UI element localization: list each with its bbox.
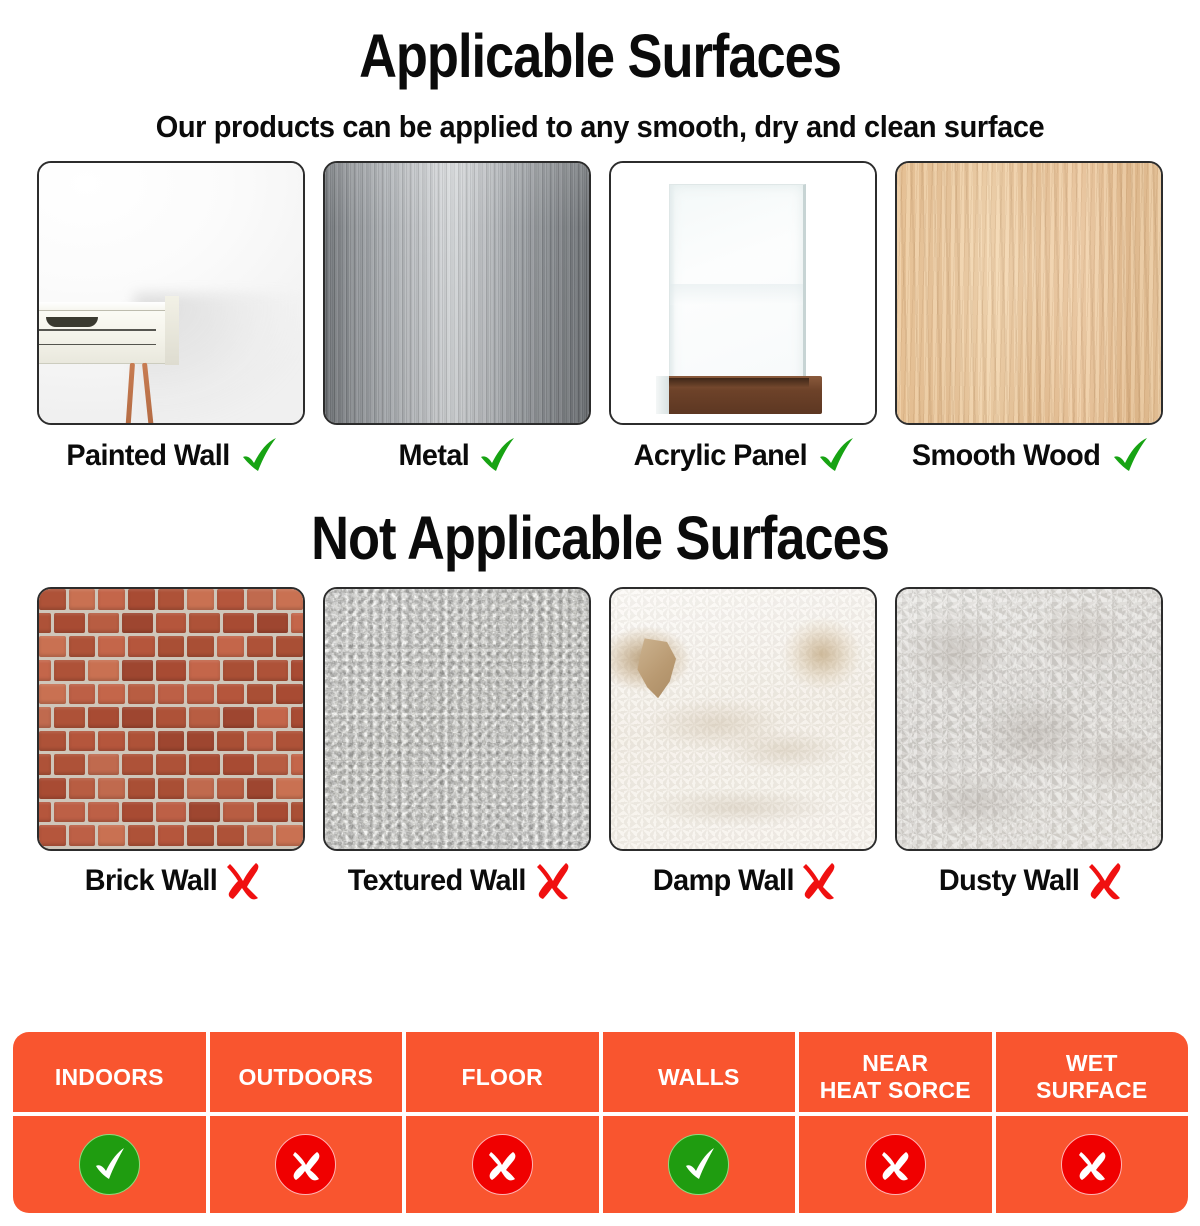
brick xyxy=(276,731,303,752)
textured-wall-image xyxy=(323,587,591,851)
brick xyxy=(276,778,303,799)
surface-caption: Painted Wall xyxy=(31,436,311,476)
brick xyxy=(187,684,214,705)
brick xyxy=(69,778,96,799)
matrix-header-line2: HEAT SORCE xyxy=(820,1077,971,1104)
brick xyxy=(39,731,66,752)
brick xyxy=(98,684,125,705)
brick xyxy=(187,589,214,610)
brick xyxy=(156,613,187,634)
brick xyxy=(54,707,85,728)
brick xyxy=(158,636,185,657)
brick-row xyxy=(39,825,303,849)
surface-card-acrylic-panel: Acrylic Panel xyxy=(603,161,883,476)
brick xyxy=(54,660,85,681)
brick xyxy=(88,707,119,728)
brick xyxy=(88,754,119,775)
surface-card-painted-wall: Painted Wall xyxy=(31,161,311,476)
brick xyxy=(37,660,51,681)
usage-matrix: INDOORS OUTDOORS FLOOR WALLS NEAR HEAT S… xyxy=(13,1032,1188,1209)
painted-wall-image xyxy=(37,161,305,425)
base-left-cap xyxy=(656,376,669,414)
matrix-header-outdoors: OUTDOORS xyxy=(210,1032,403,1112)
surface-label: Dusty Wall xyxy=(939,864,1079,898)
brick-row xyxy=(39,778,303,802)
matrix-header-line1: WET xyxy=(1066,1050,1118,1076)
brick xyxy=(291,660,305,681)
red-cross-icon xyxy=(536,862,570,900)
textured-wall-texture xyxy=(325,589,589,849)
green-check-icon xyxy=(239,436,279,476)
brick xyxy=(69,636,96,657)
matrix-status-wet-surface xyxy=(996,1116,1189,1213)
red-cross-icon xyxy=(802,862,836,900)
cabinet-side-face xyxy=(165,296,179,365)
brick xyxy=(37,707,51,728)
brick xyxy=(257,707,288,728)
check-circle-icon xyxy=(668,1134,729,1195)
brick xyxy=(98,589,125,610)
brick xyxy=(54,754,85,775)
brick xyxy=(247,778,274,799)
base-slot xyxy=(666,378,809,386)
brick xyxy=(128,636,155,657)
surface-caption: Textured Wall xyxy=(317,862,597,900)
brick xyxy=(247,684,274,705)
brick xyxy=(223,754,254,775)
brick xyxy=(158,825,185,846)
brick xyxy=(291,754,305,775)
brick xyxy=(39,589,66,610)
brick xyxy=(247,731,274,752)
surface-label: Acrylic Panel xyxy=(633,439,806,473)
brick xyxy=(247,589,274,610)
acrylic-panel-image xyxy=(609,161,877,425)
matrix-header-line1: WALLS xyxy=(658,1064,740,1090)
matrix-header-line1: NEAR xyxy=(862,1050,928,1076)
surface-card-metal: Metal xyxy=(317,161,597,476)
surface-label: Damp Wall xyxy=(653,864,794,898)
wooden-base xyxy=(656,376,822,414)
brick xyxy=(291,613,305,634)
smooth-wood-image xyxy=(895,161,1163,425)
brick-row xyxy=(39,589,303,613)
smooth-wood-texture xyxy=(897,163,1161,423)
page-title-not-applicable: Not Applicable Surfaces xyxy=(84,508,1116,569)
brick xyxy=(247,636,274,657)
brick xyxy=(223,660,254,681)
surface-caption: Damp Wall xyxy=(603,862,883,900)
cabinet-line-2 xyxy=(37,344,156,346)
brick xyxy=(88,802,119,823)
brick xyxy=(189,660,220,681)
cabinet-handle xyxy=(46,317,98,326)
painted-wall-texture xyxy=(39,163,303,423)
brick xyxy=(122,707,153,728)
brick xyxy=(187,636,214,657)
brick xyxy=(158,731,185,752)
brick xyxy=(257,613,288,634)
brick xyxy=(122,802,153,823)
brick xyxy=(98,778,125,799)
brick xyxy=(156,660,187,681)
matrix-header-indoors: INDOORS xyxy=(13,1032,206,1112)
acrylic-panel-texture xyxy=(611,163,875,423)
matrix-header-line1: FLOOR xyxy=(462,1064,544,1090)
brick xyxy=(69,731,96,752)
brick-row xyxy=(37,613,305,637)
brick-row xyxy=(39,684,303,708)
matrix-status-floor xyxy=(406,1116,599,1213)
paint-peel-patch xyxy=(635,638,680,698)
brick xyxy=(276,589,303,610)
surface-caption: Dusty Wall xyxy=(889,862,1169,900)
brick xyxy=(158,589,185,610)
brick xyxy=(69,589,96,610)
brick xyxy=(276,636,303,657)
brick-row xyxy=(37,802,305,826)
brick xyxy=(223,802,254,823)
brick xyxy=(257,802,288,823)
brick xyxy=(189,613,220,634)
brick xyxy=(128,778,155,799)
brick xyxy=(187,778,214,799)
brick-wall-texture xyxy=(39,589,303,849)
brick xyxy=(156,754,187,775)
cabinet-shape xyxy=(37,302,168,364)
acrylic-sheet xyxy=(669,184,806,397)
damp-wall-texture xyxy=(611,589,875,849)
surface-card-dusty-wall: Dusty Wall xyxy=(889,587,1169,900)
matrix-header-line1: OUTDOORS xyxy=(239,1064,374,1090)
dusty-wall-texture xyxy=(897,589,1161,849)
surface-label: Smooth Wood xyxy=(912,439,1100,473)
surface-caption: Acrylic Panel xyxy=(603,436,883,476)
brick xyxy=(122,613,153,634)
brick-row xyxy=(39,636,303,660)
brick xyxy=(156,802,187,823)
dusty-wall-image xyxy=(895,587,1163,851)
brick-row xyxy=(37,754,305,778)
red-cross-icon xyxy=(1088,862,1122,900)
brick xyxy=(291,802,305,823)
x-circle-icon xyxy=(865,1134,926,1195)
cabinet-line-1 xyxy=(37,329,156,331)
brick xyxy=(217,589,244,610)
x-circle-icon xyxy=(1061,1134,1122,1195)
brick xyxy=(257,754,288,775)
surface-card-brick-wall: Brick Wall xyxy=(31,587,311,900)
red-cross-icon xyxy=(226,862,260,900)
metal-image xyxy=(323,161,591,425)
green-check-icon xyxy=(816,436,856,476)
brick xyxy=(128,589,155,610)
applicable-surfaces-grid: Painted Wall Metal xyxy=(0,161,1200,476)
brick xyxy=(98,636,125,657)
surface-label: Metal xyxy=(399,439,470,473)
brick xyxy=(189,754,220,775)
brick xyxy=(223,707,254,728)
surface-card-textured-wall: Textured Wall xyxy=(317,587,597,900)
brick xyxy=(88,613,119,634)
brick xyxy=(158,778,185,799)
brick xyxy=(88,660,119,681)
brick xyxy=(187,731,214,752)
surface-caption: Brick Wall xyxy=(31,862,311,900)
x-circle-icon xyxy=(472,1134,533,1195)
damp-wall-image xyxy=(609,587,877,851)
page-title-applicable: Applicable Surfaces xyxy=(84,26,1116,87)
brick xyxy=(158,684,185,705)
green-check-icon xyxy=(1110,436,1150,476)
brick xyxy=(54,802,85,823)
matrix-header-line2: SURFACE xyxy=(1036,1077,1147,1104)
brick xyxy=(217,825,244,846)
brick xyxy=(39,636,66,657)
brick xyxy=(189,707,220,728)
matrix-header-near-heat-sorce: NEAR HEAT SORCE xyxy=(799,1032,992,1112)
cabinet-top-edge xyxy=(37,302,167,311)
brick xyxy=(189,802,220,823)
brick xyxy=(217,684,244,705)
brick xyxy=(291,707,305,728)
brick xyxy=(276,825,303,846)
brick xyxy=(69,684,96,705)
surface-label: Painted Wall xyxy=(66,439,229,473)
brick xyxy=(276,684,303,705)
matrix-header-line1: INDOORS xyxy=(55,1064,164,1090)
brick xyxy=(37,754,51,775)
brick xyxy=(98,825,125,846)
matrix-header-walls: WALLS xyxy=(603,1032,796,1112)
brick xyxy=(54,613,85,634)
brick xyxy=(128,731,155,752)
matrix-status-walls xyxy=(603,1116,796,1213)
brick xyxy=(128,684,155,705)
brick xyxy=(98,731,125,752)
brick xyxy=(39,825,66,846)
brick xyxy=(223,613,254,634)
brick xyxy=(257,660,288,681)
brick-row xyxy=(39,731,303,755)
brick xyxy=(217,731,244,752)
brick xyxy=(247,825,274,846)
brick xyxy=(122,754,153,775)
check-circle-icon xyxy=(79,1134,140,1195)
matrix-header-floor: FLOOR xyxy=(406,1032,599,1112)
brick-wall-image xyxy=(37,587,305,851)
applicable-subtitle: Our products can be applied to any smoot… xyxy=(30,110,1170,145)
brick xyxy=(39,684,66,705)
brick-row xyxy=(37,660,305,684)
x-circle-icon xyxy=(275,1134,336,1195)
acrylic-reflection-band xyxy=(670,284,803,305)
surface-label: Textured Wall xyxy=(348,864,526,898)
brick xyxy=(156,707,187,728)
brick-row xyxy=(37,707,305,731)
surface-caption: Metal xyxy=(317,436,597,476)
surface-caption: Smooth Wood xyxy=(889,436,1169,476)
brick xyxy=(37,613,51,634)
brick xyxy=(39,778,66,799)
brick xyxy=(128,825,155,846)
brick xyxy=(69,825,96,846)
not-applicable-surfaces-grid: Brick Wall Textured Wall Damp Wall xyxy=(0,587,1200,900)
matrix-status-outdoors xyxy=(210,1116,403,1213)
matrix-header-wet-surface: WET SURFACE xyxy=(996,1032,1189,1112)
brushed-metal-texture xyxy=(325,163,589,423)
brick xyxy=(122,660,153,681)
surface-card-smooth-wood: Smooth Wood xyxy=(889,161,1169,476)
green-check-icon xyxy=(477,436,517,476)
surface-card-damp-wall: Damp Wall xyxy=(603,587,883,900)
brick xyxy=(217,778,244,799)
surface-label: Brick Wall xyxy=(85,864,217,898)
brick xyxy=(37,802,51,823)
matrix-status-indoors xyxy=(13,1116,206,1213)
brick xyxy=(217,636,244,657)
matrix-status-near-heat-sorce xyxy=(799,1116,992,1213)
brick xyxy=(187,825,214,846)
